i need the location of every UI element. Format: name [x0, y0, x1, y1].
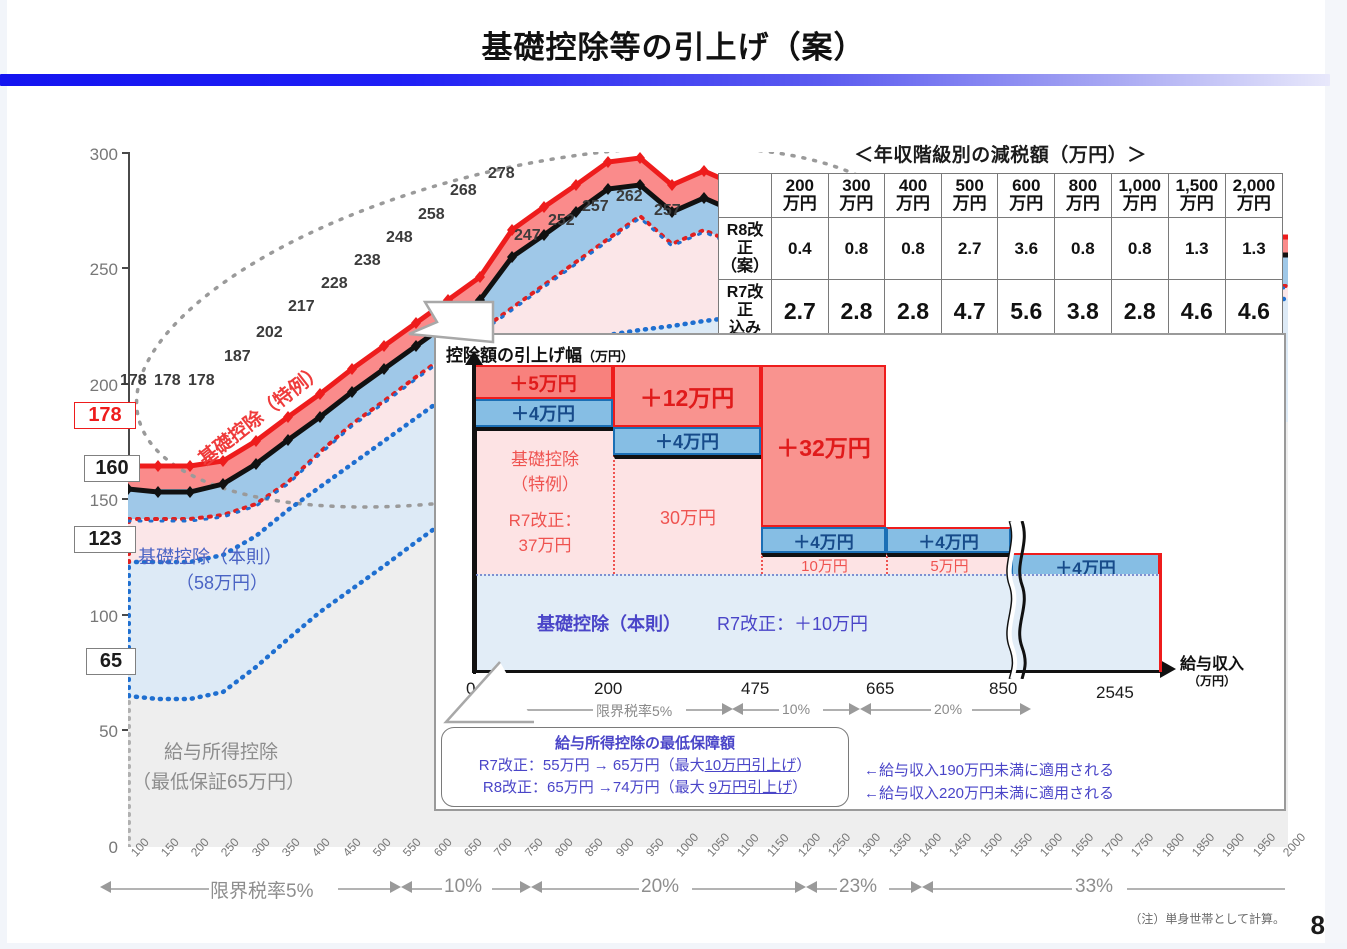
y-value-box-123: 123 — [74, 526, 136, 553]
row-label-line1: R8改正 — [727, 222, 763, 257]
inset-x-tick-850: 850 — [989, 679, 1017, 699]
inset-x-axis-label: 給与収入 （万円） — [1180, 655, 1244, 689]
inset-block-seg3-red: ＋32万円 — [761, 365, 886, 527]
bottom-edge-strip — [0, 943, 1347, 949]
col-amount: 2,000 — [1233, 176, 1276, 195]
table-header-row: 200 万円 300 万円 400 万円 500 万円 600 万円 — [719, 174, 1283, 218]
inset-base1-line3: R7改正： — [509, 508, 582, 534]
value-label-12: 278 — [488, 165, 515, 183]
inset-callout: 給与所得控除の最低保障額 R7改正：55万円 → 65万円（最大10万円引上げ）… — [441, 727, 849, 807]
table-cell: 0.8 — [885, 217, 942, 280]
table-cell: 0.8 — [1055, 217, 1112, 280]
inset-honsoku-label: 基礎控除（本則） — [537, 610, 681, 636]
callout-line1-b: ） — [796, 757, 811, 774]
inset-right-red-edge — [1159, 553, 1162, 672]
rate-bar-line-2a — [412, 888, 442, 890]
rate-bar-arrow-left-1 — [100, 881, 111, 893]
table-col-header: 600 万円 — [998, 174, 1055, 218]
inset-rate-line-2 — [743, 709, 779, 711]
col-unit: 万円 — [839, 194, 873, 213]
value-label-2: 178 — [154, 372, 181, 390]
inset-left-black-edge — [473, 363, 476, 674]
value-label-10: 258 — [418, 206, 445, 224]
inset-rate-line-2b — [823, 709, 849, 711]
inset-block-seg2-blue: ＋4万円 — [613, 427, 761, 455]
inset-title-unit: （万円） — [582, 349, 634, 364]
inset-rate-line-3b — [972, 709, 1020, 711]
table-cell: 0.8 — [1111, 217, 1168, 280]
table-col-header: 500 万円 — [941, 174, 998, 218]
table-col-header: 800 万円 — [1055, 174, 1112, 218]
area-label-kyuyo-line2: （最低保証65万円） — [132, 770, 305, 797]
slide-title: 基礎控除等の引上げ（案） — [0, 22, 1347, 67]
rate-bar-arrow-right-1 — [390, 881, 401, 893]
inset-rate-arrow-left-2 — [732, 703, 743, 715]
right-edge-strip — [1325, 0, 1347, 949]
inset-x-tick-200: 200 — [594, 679, 622, 699]
inset-x-axis-arrow — [1160, 660, 1176, 678]
y-value-box-160: 160 — [84, 455, 140, 482]
inset-rate-arrow-right-3 — [1020, 703, 1031, 715]
inset-block-seg1-blue: ＋4万円 — [473, 399, 613, 427]
inset-base1-line4: 37万円 — [519, 533, 572, 559]
row-label-line2: （案） — [721, 258, 769, 275]
y-tick-250: 250 — [58, 260, 118, 280]
rate-bar-line-4a — [817, 888, 837, 890]
rate-bar-line-1b — [338, 888, 390, 890]
rate-bar-line-3b — [692, 888, 795, 890]
inset-block-base4: 5万円 — [886, 553, 1011, 574]
col-unit: 万円 — [1123, 194, 1157, 213]
row-label-line1: R7改正 — [727, 284, 763, 319]
bottom-rate-bar: 限界税率5% 10% 20% 23% 33% — [100, 876, 1285, 910]
col-unit: 万円 — [1066, 194, 1100, 213]
deduction-table: 200 万円 300 万円 400 万円 500 万円 600 万円 — [718, 173, 1283, 343]
callout-line1-underline: 10万円引上げ — [705, 757, 797, 774]
inset-block-seg2-red: ＋12万円 — [613, 365, 761, 427]
page-number: 8 — [1311, 910, 1325, 941]
axis-break-squiggle — [996, 521, 1034, 679]
table-cell: 1.3 — [1225, 217, 1282, 280]
table-col-header: 300 万円 — [828, 174, 885, 218]
inset-rate-line-3 — [871, 709, 931, 711]
table-col-header: 1,500 万円 — [1168, 174, 1225, 218]
y-tick-100: 100 — [58, 607, 118, 627]
inset-block-base1: 基礎控除 （特例） R7改正： 37万円 — [473, 427, 613, 574]
slide-canvas: 基礎控除等の引上げ（案） 300 250 200 150 100 50 0 — [0, 0, 1347, 949]
inset-base1-line1: 基礎控除 — [511, 447, 579, 473]
rate-bar-line-4b — [889, 888, 911, 890]
value-label-7: 228 — [321, 275, 348, 293]
slide-footnote: （注）単身世帯として計算。 — [1129, 910, 1285, 927]
inset-rate-label-3: 20% — [934, 701, 962, 717]
inset-rate-arrow-right-2 — [849, 703, 860, 715]
area-label-kiso-honsoku-line1: 基礎控除（本則） — [138, 545, 282, 569]
inset-base1-line2: （特例） — [511, 472, 579, 498]
rate-bar-arrow-right-4 — [911, 881, 922, 893]
table-cell: 2.7 — [941, 217, 998, 280]
rate-bar-arrow-left-2 — [401, 881, 412, 893]
table-col-header: 200 万円 — [772, 174, 829, 218]
table-cell: 0.4 — [772, 217, 829, 280]
rate-bar-label-2: 10% — [444, 876, 482, 898]
inset-rate-label-2: 10% — [782, 701, 810, 717]
value-label-15: 257 — [582, 198, 609, 216]
col-unit: 万円 — [783, 194, 817, 213]
callout-line2-underline: 9万円引上げ — [709, 779, 792, 796]
value-label-11: 268 — [450, 182, 477, 200]
rate-bar-arrow-right-3 — [795, 881, 806, 893]
table-cell: 3.6 — [998, 217, 1055, 280]
value-label-8: 238 — [354, 252, 381, 270]
value-label-1: 178 — [120, 372, 147, 390]
col-unit: 万円 — [1009, 194, 1043, 213]
callout-line2-a: R8改正：65万円 →74万円（最大 — [483, 779, 709, 796]
inset-block-honsoku: 基礎控除（本則） R7改正：＋10万円 — [473, 574, 1161, 670]
table-corner-cell — [719, 174, 772, 218]
accent-bar — [0, 74, 1330, 86]
inset-notes: ←給与収入190万円未満に適用される ←給与収入220万円未満に適用される — [864, 759, 1114, 806]
col-amount: 400 — [899, 176, 927, 195]
y-tick-300: 300 — [58, 145, 118, 165]
col-amount: 600 — [1012, 176, 1040, 195]
rate-bar-line-3a — [542, 888, 639, 890]
table-row: R8改正 （案） 0.4 0.8 0.8 2.7 3.6 0.8 0.8 1.3… — [719, 217, 1283, 280]
table-col-header: 1,000 万円 — [1111, 174, 1168, 218]
col-unit: 万円 — [1180, 194, 1214, 213]
y-tick-150: 150 — [58, 491, 118, 511]
rate-bar-arrow-left-4 — [806, 881, 817, 893]
col-unit: 万円 — [1237, 194, 1271, 213]
inset-panel: 控除額の引上げ幅（万円） 給与収入 （万円） ＋5万円 ＋4万円 基礎控除 （特… — [434, 333, 1286, 811]
callout-line1-a: R7改正：55万円 → 65万円（最大 — [479, 757, 705, 774]
inset-x-tick-665: 665 — [866, 679, 894, 699]
callout-line-2: R8改正：65万円 →74万円（最大 9万円引上げ） — [442, 777, 848, 799]
inset-block-seg4-blue: ＋4万円 — [886, 527, 1011, 553]
rate-bar-arrow-right-2 — [520, 881, 531, 893]
value-label-9: 248 — [386, 229, 413, 247]
col-amount: 200 — [786, 176, 814, 195]
rate-bar-label-4: 23% — [839, 876, 877, 898]
rate-bar-line-2b — [492, 888, 520, 890]
inset-block-base3: 10万円 — [761, 553, 886, 574]
area-label-kiso-honsoku-line2: （58万円） — [176, 571, 268, 595]
inset-honsoku-value: R7改正：＋10万円 — [717, 610, 868, 636]
inset-x-tick-0: 0 — [466, 679, 475, 699]
rate-bar-label-1: 限界税率5% — [210, 876, 313, 903]
value-label-17: 257 — [654, 202, 681, 220]
inset-rate-arrow-left-1 — [474, 703, 485, 715]
callout-line2-b: ） — [792, 779, 807, 796]
y-tick-0: 0 — [58, 838, 118, 858]
inset-x-tick-475: 475 — [741, 679, 769, 699]
row-label-r8: R8改正 （案） — [719, 217, 772, 280]
inset-x-axis-label-main: 給与収入 — [1180, 656, 1244, 673]
table-col-header: 400 万円 — [885, 174, 942, 218]
area-label-kyuyo-line1: 給与所得控除 — [164, 740, 278, 767]
value-label-14: 252 — [548, 212, 575, 230]
rate-bar-label-5: 33% — [1075, 876, 1113, 898]
value-label-13: 247 — [514, 227, 541, 245]
col-unit: 万円 — [953, 194, 987, 213]
inset-rate-line-1b — [686, 709, 722, 711]
rate-bar-label-3: 20% — [641, 876, 679, 898]
rate-bar-line-1a — [111, 888, 209, 890]
table-col-header: 2,000 万円 — [1225, 174, 1282, 218]
col-amount: 800 — [1069, 176, 1097, 195]
rate-bar-line-5b — [1127, 888, 1285, 890]
callout-line-1: R7改正：55万円 → 65万円（最大10万円引上げ） — [442, 755, 848, 777]
inset-rate-line-1 — [478, 709, 593, 711]
inset-x-tick-2545: 2545 — [1096, 683, 1134, 703]
inset-block-base2: 30万円 — [613, 455, 761, 574]
col-amount: 1,500 — [1176, 176, 1219, 195]
table-cell: 1.3 — [1168, 217, 1225, 280]
inset-rate-arrow-left-3 — [860, 703, 871, 715]
deduction-table-title: ＜年収階級別の減税額（万円）＞ — [718, 140, 1283, 167]
value-label-4: 187 — [224, 348, 251, 366]
inset-x-axis-label-unit: （万円） — [1180, 674, 1244, 688]
y-tick-200: 200 — [58, 376, 118, 396]
col-amount: 300 — [842, 176, 870, 195]
inset-block-seg3-blue: ＋4万円 — [761, 527, 886, 553]
value-label-3: 178 — [188, 372, 215, 390]
deduction-table-panel: ＜年収階級別の減税額（万円）＞ 200 万円 300 万円 400 万円 500 — [718, 140, 1283, 343]
col-amount: 500 — [955, 176, 983, 195]
table-cell: 0.8 — [828, 217, 885, 280]
inset-note-1: ←給与収入190万円未満に適用される — [864, 759, 1114, 782]
inset-x-axis — [472, 670, 1162, 673]
rate-bar-arrow-left-5 — [922, 881, 933, 893]
y-tick-50: 50 — [58, 722, 118, 742]
callout-heading: 給与所得控除の最低保障額 — [442, 733, 848, 755]
inset-rate-label-1: 限界税率5% — [596, 701, 672, 721]
col-unit: 万円 — [896, 194, 930, 213]
rate-bar-arrow-left-3 — [531, 881, 542, 893]
col-amount: 1,000 — [1118, 176, 1161, 195]
rate-bar-line-5a — [933, 888, 1072, 890]
value-label-5: 202 — [256, 324, 283, 342]
y-value-box-65: 65 — [86, 648, 136, 675]
value-label-6: 217 — [288, 298, 315, 316]
y-value-box-178: 178 — [74, 402, 136, 429]
left-edge-strip — [0, 0, 7, 949]
inset-note-2: ←給与収入220万円未満に適用される — [864, 782, 1114, 805]
value-label-16: 262 — [616, 188, 643, 206]
inset-block-seg1-red: ＋5万円 — [473, 365, 613, 399]
